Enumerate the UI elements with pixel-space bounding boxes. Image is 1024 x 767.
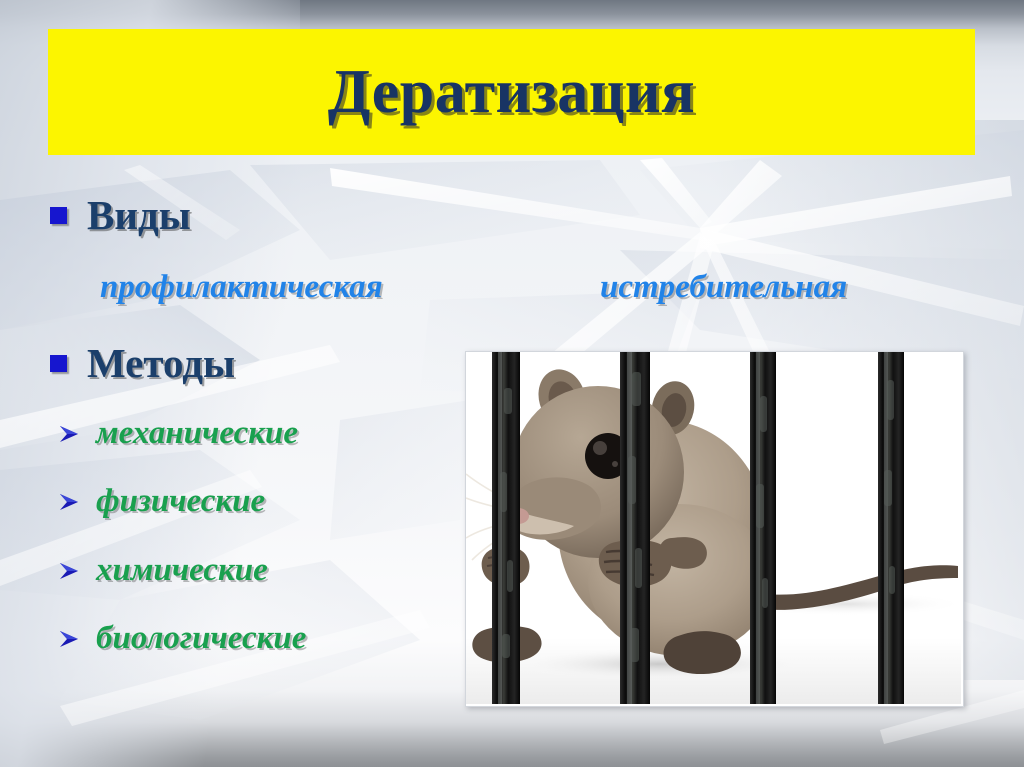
method-item-chemical: химические — [58, 554, 268, 587]
type-prophylactic: профилактическая — [100, 271, 383, 304]
presentation-slide: Дератизация Виды профилактическая истреб… — [0, 0, 1024, 767]
method-item-mechanical: механические — [58, 417, 298, 450]
method-item-physical: физические — [58, 485, 265, 518]
method-item-biological: биологические — [58, 622, 306, 655]
method-label: физические — [96, 485, 265, 518]
method-label: механические — [96, 417, 298, 450]
arrow-bullet-icon — [58, 561, 80, 581]
arrow-bullet-icon — [58, 424, 80, 444]
section-heading-vidy: Виды — [50, 195, 191, 236]
slide-title: Дератизация — [328, 61, 695, 123]
arrow-bullet-icon — [58, 492, 80, 512]
square-bullet-icon — [50, 207, 67, 224]
method-label: химические — [96, 554, 268, 587]
method-label: биологические — [96, 622, 306, 655]
mouse-behind-bars-photo — [465, 351, 964, 707]
section-heading-label: Виды — [87, 195, 191, 236]
square-bullet-icon — [50, 355, 67, 372]
arrow-bullet-icon — [58, 629, 80, 649]
type-exterminative: истребительная — [600, 271, 847, 304]
section-heading-label: Методы — [87, 343, 235, 384]
section-heading-metody: Методы — [50, 343, 235, 384]
slide-title-banner: Дератизация — [48, 29, 975, 155]
